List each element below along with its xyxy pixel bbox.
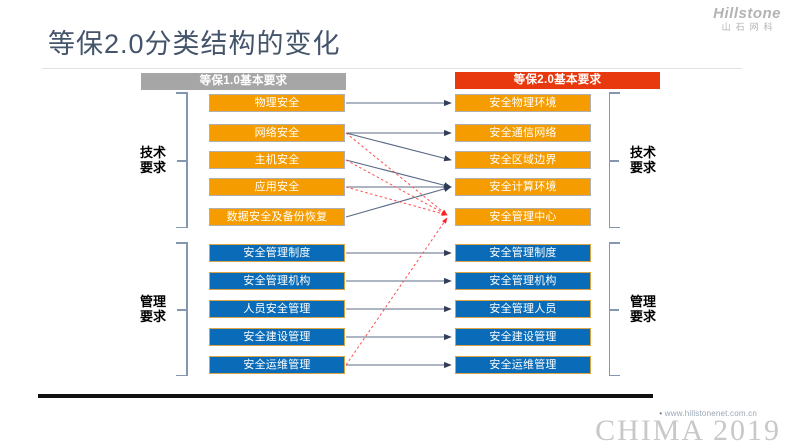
bracket-cap-top	[610, 92, 620, 94]
node-right-tech-1[interactable]: 安全物理环境	[455, 94, 591, 112]
bracket-cap-bottom	[610, 227, 620, 229]
bracket-nib	[610, 309, 619, 311]
site-watermark-text: www.hillstonenet.com.cn	[665, 409, 757, 418]
bracket-right-technical	[600, 92, 620, 228]
node-right-mgmt-4[interactable]: 安全建设管理	[455, 328, 591, 346]
bracket-cap-top	[176, 242, 186, 244]
node-left-tech-5[interactable]: 数据安全及备份恢复	[209, 208, 345, 226]
bracket-cap-bottom	[176, 227, 186, 229]
node-right-mgmt-5[interactable]: 安全运维管理	[455, 356, 591, 374]
node-right-tech-5[interactable]: 安全管理中心	[455, 208, 591, 226]
group-label-left-management: 管理 要求	[131, 294, 175, 324]
node-left-mgmt-4[interactable]: 安全建设管理	[209, 328, 345, 346]
connector-group-gray	[346, 103, 451, 365]
node-right-mgmt-3[interactable]: 安全管理人员	[455, 300, 591, 318]
group-label-right-management: 管理 要求	[621, 294, 665, 324]
group-label-right-technical: 技术 要求	[621, 145, 665, 175]
wire-tech-3-to-4	[346, 160, 451, 187]
node-left-tech-4[interactable]: 应用安全	[209, 178, 345, 196]
bracket-nib	[177, 160, 186, 162]
wire-red-tech-3-to-mgmt-center	[346, 160, 447, 215]
group-label-left-technical: 技术 要求	[131, 145, 175, 175]
wire-red-tech-4-to-mgmt-center	[346, 187, 447, 215]
site-watermark: • www.hillstonenet.com.cn	[659, 409, 757, 418]
bracket-cap-top	[176, 92, 186, 94]
bracket-left-technical	[176, 92, 196, 228]
footer-divider	[38, 394, 653, 398]
connector-group-red-dotted	[346, 133, 447, 365]
connector-lines	[0, 0, 793, 446]
bracket-stem	[186, 92, 188, 228]
node-left-mgmt-5[interactable]: 安全运维管理	[209, 356, 345, 374]
bracket-cap-bottom	[610, 375, 620, 377]
bracket-nib	[177, 309, 186, 311]
diagram-canvas: 等保1.0基本要求 等保2.0基本要求 物理安全 网络安全 主机安全 应用安全 …	[0, 0, 793, 400]
wire-red-tech-2-to-mgmt-center	[346, 133, 447, 215]
bracket-left-management	[176, 242, 196, 376]
node-right-mgmt-2[interactable]: 安全管理机构	[455, 272, 591, 290]
bracket-stem	[186, 242, 188, 376]
node-right-tech-4[interactable]: 安全计算环境	[455, 178, 591, 196]
node-right-mgmt-1[interactable]: 安全管理制度	[455, 244, 591, 262]
node-left-mgmt-3[interactable]: 人员安全管理	[209, 300, 345, 318]
node-left-tech-2[interactable]: 网络安全	[209, 124, 345, 142]
node-left-mgmt-1[interactable]: 安全管理制度	[209, 244, 345, 262]
conference-label: CHIMA 2019	[595, 414, 781, 448]
bracket-cap-bottom	[176, 375, 186, 377]
node-left-mgmt-2[interactable]: 安全管理机构	[209, 272, 345, 290]
node-right-tech-3[interactable]: 安全区域边界	[455, 151, 591, 169]
column-header-right: 等保2.0基本要求	[455, 72, 660, 89]
node-right-tech-2[interactable]: 安全通信网络	[455, 124, 591, 142]
column-header-left: 等保1.0基本要求	[141, 73, 346, 90]
wire-tech-2-to-3	[346, 133, 451, 160]
wire-red-mgmt-5-to-mgmt-center	[346, 218, 447, 365]
node-left-tech-1[interactable]: 物理安全	[209, 94, 345, 112]
wire-tech-5-to-4	[346, 187, 451, 217]
bracket-right-management	[600, 242, 620, 376]
node-left-tech-3[interactable]: 主机安全	[209, 151, 345, 169]
bracket-nib	[610, 160, 619, 162]
bracket-cap-top	[610, 242, 620, 244]
